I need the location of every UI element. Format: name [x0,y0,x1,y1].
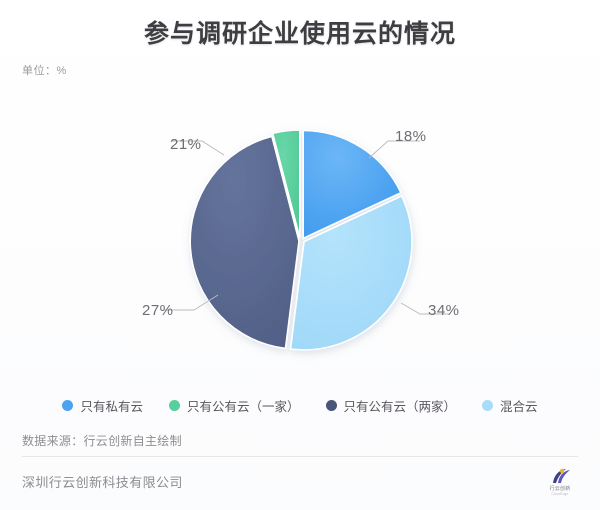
footer-divider [22,456,578,457]
legend-item-public-two[interactable]: 只有公有云（两家） [326,396,457,415]
logo-swoosh-icon [547,468,573,486]
pie-slices [190,130,412,350]
unit-label: 单位：% [22,62,67,78]
pie-label-public-two: 27% [142,302,174,319]
page-title: 参与调研企业使用云的情况 [0,14,600,50]
legend-item-label: 只有公有云（一家） [187,396,300,415]
logo-subtext: CloudTogo [551,492,568,496]
company-logo: 行云创新 CloudTogo [538,464,582,500]
chart-page: 参与调研企业使用云的情况 单位：% [0,0,600,510]
legend-item-public-one[interactable]: 只有公有云（一家） [169,396,300,415]
legend-dot-icon [482,400,493,411]
chart-legend: 只有私有云 只有公有云（一家） 只有公有云（两家） 混合云 [0,396,600,415]
legend-item-label: 混合云 [500,396,538,415]
legend-dot-icon [326,400,337,411]
legend-item-private[interactable]: 只有私有云 [62,396,143,415]
legend-dot-icon [62,400,73,411]
pie-label-hybrid: 34% [428,302,460,319]
legend-item-label: 只有私有云 [80,396,143,415]
legend-dot-icon [169,400,180,411]
legend-item-label: 只有公有云（两家） [344,396,457,415]
pie-label-public-one: 21% [170,136,202,153]
legend-item-hybrid[interactable]: 混合云 [482,396,538,415]
data-source: 数据来源：行云创新自主绘制 [22,432,182,449]
pie-label-private: 18% [395,128,427,145]
company-name: 深圳行云创新科技有限公司 [22,472,183,491]
